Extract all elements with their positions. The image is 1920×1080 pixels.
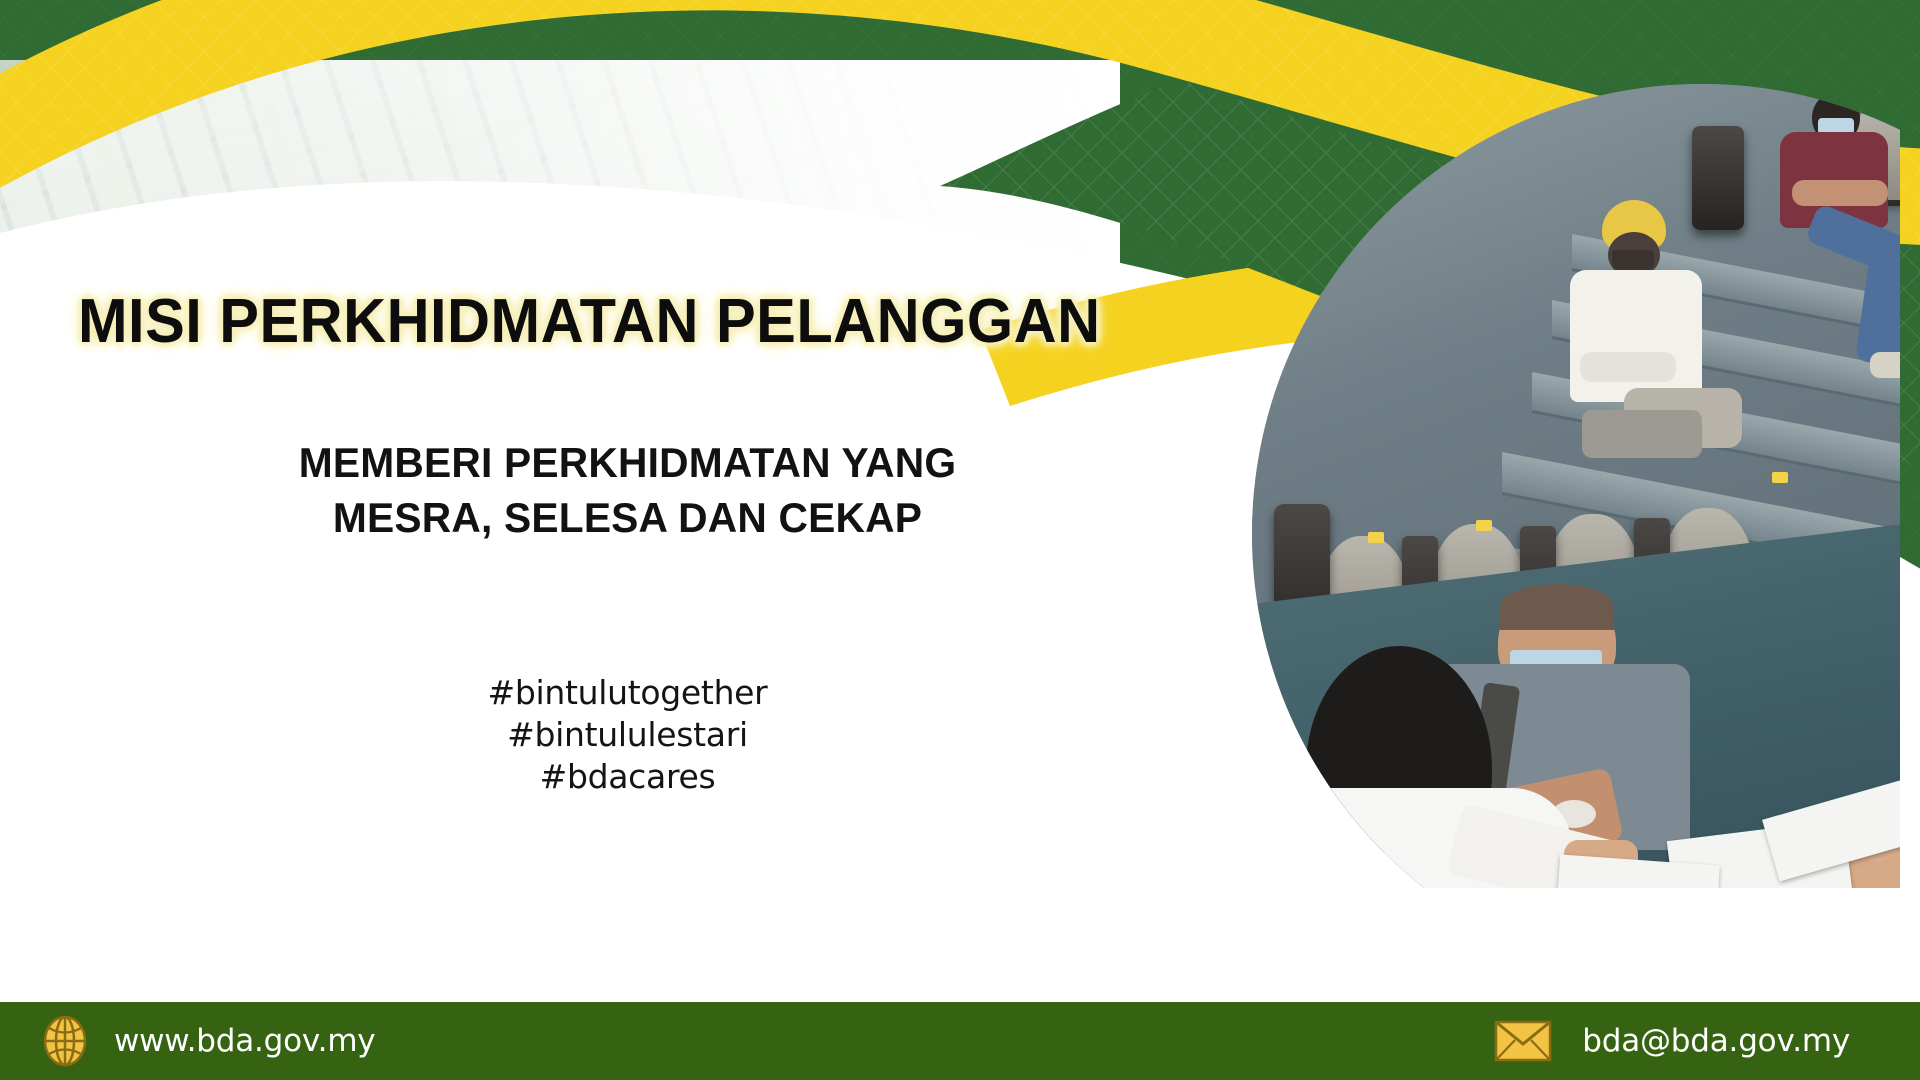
customer-service-photo <box>1252 84 1920 984</box>
footer-email-group[interactable]: bda@bda.gov.my <box>1494 1020 1850 1062</box>
page-title: MISI PERKHIDMATAN PELANGGAN <box>78 286 1101 357</box>
photo-scene <box>1252 84 1920 984</box>
hashtag-2: #bintululestari <box>0 714 1255 756</box>
footer-bar: www.bda.gov.my bda@bda.gov.my <box>0 1002 1920 1080</box>
poster-canvas: MISI PERKHIDMATAN PELANGGAN MEMBERI PERK… <box>0 0 1920 1080</box>
hashtag-1: #bintulutogether <box>0 672 1255 714</box>
mail-icon <box>1494 1020 1552 1062</box>
footer-website-text[interactable]: www.bda.gov.my <box>114 1023 375 1059</box>
hashtag-3: #bdacares <box>0 756 1255 798</box>
seat-marker-tag <box>1476 520 1492 531</box>
hashtag-block: #bintulutogether #bintululestari #bdacar… <box>0 672 1255 799</box>
seat-marker-tag <box>1772 472 1788 483</box>
seat-marker-tag <box>1368 532 1384 543</box>
globe-icon <box>42 1015 88 1067</box>
subtitle-block: MEMBERI PERKHIDMATAN YANG MESRA, SELESA … <box>19 435 1236 546</box>
subtitle-line-2: MESRA, SELESA DAN CEKAP <box>19 490 1236 545</box>
footer-website-group[interactable]: www.bda.gov.my <box>42 1015 375 1067</box>
auditorium-seat <box>1692 126 1744 230</box>
subtitle-line-1: MEMBERI PERKHIDMATAN YANG <box>19 435 1236 490</box>
footer-email-text[interactable]: bda@bda.gov.my <box>1582 1023 1850 1059</box>
